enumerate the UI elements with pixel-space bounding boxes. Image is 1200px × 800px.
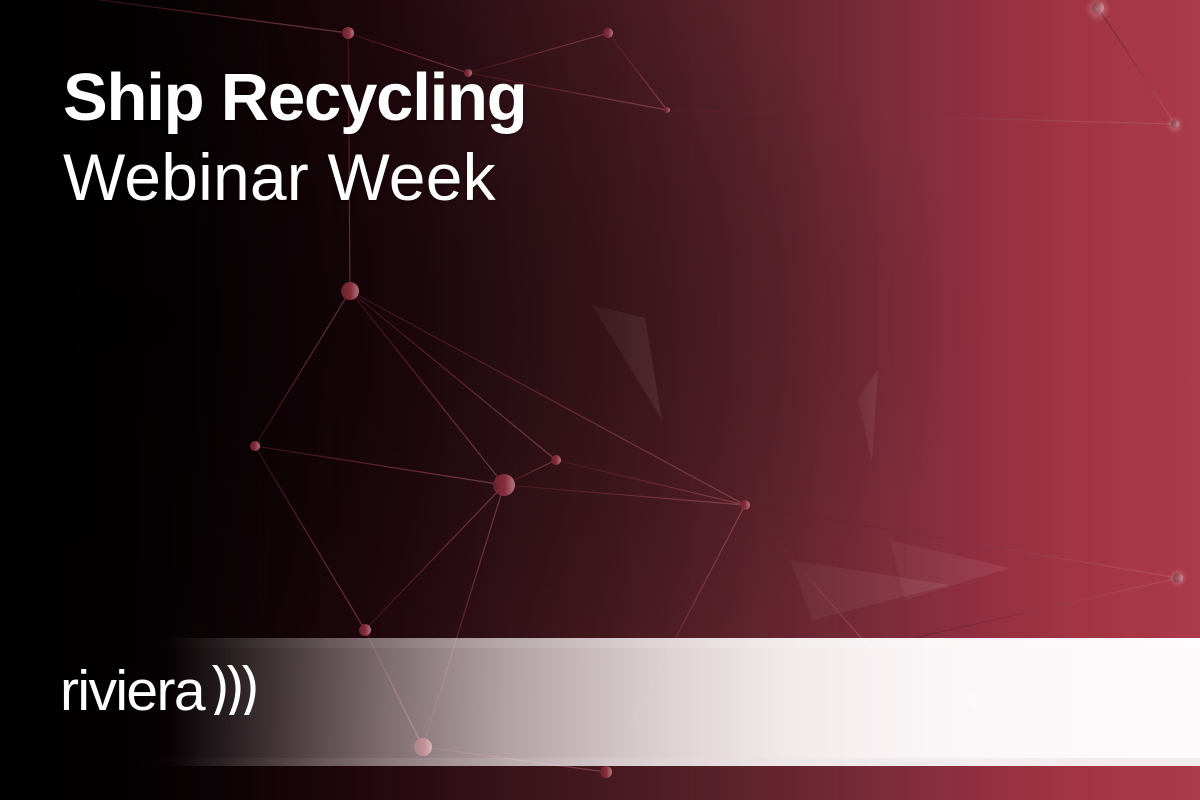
network-edge — [255, 291, 350, 446]
network-node — [1173, 573, 1183, 583]
network-node — [1171, 120, 1179, 128]
network-edge — [1098, 8, 1175, 124]
network-edge — [350, 291, 504, 485]
network-node — [341, 282, 359, 300]
triple-chevron-arc-icon — [206, 659, 268, 726]
network-node — [603, 28, 613, 38]
network-edge — [667, 110, 1175, 124]
brand-ribbon-bottom-edge — [0, 758, 1200, 766]
title-line-secondary: Webinar Week — [63, 146, 527, 209]
network-edge — [365, 485, 504, 630]
network-node — [600, 766, 612, 778]
network-node — [359, 624, 371, 636]
brand-ribbon-top-edge — [0, 638, 1200, 648]
network-edge — [350, 291, 745, 505]
polygon-triangle — [858, 370, 878, 462]
brand-wordmark: riviera — [60, 663, 204, 720]
network-node — [1092, 2, 1104, 14]
page-title: Ship Recycling Webinar Week — [63, 66, 527, 210]
network-node — [740, 500, 750, 510]
network-edge — [608, 33, 667, 110]
polygon-triangle — [890, 540, 1010, 600]
network-edge — [556, 460, 745, 505]
polygon-triangles — [592, 305, 1010, 620]
network-edge — [350, 291, 556, 460]
network-edge — [255, 446, 504, 485]
network-edge — [100, 0, 348, 33]
network-node — [664, 107, 670, 113]
network-edge — [255, 446, 365, 630]
promo-banner: Ship Recycling Webinar Week riviera — [0, 0, 1200, 800]
network-node — [551, 455, 561, 465]
network-edge — [504, 485, 745, 505]
title-line-primary: Ship Recycling — [63, 66, 527, 130]
polygon-triangle — [592, 305, 662, 420]
network-node — [250, 441, 260, 451]
brand-logo[interactable]: riviera — [60, 661, 268, 723]
network-node — [342, 27, 354, 39]
network-node — [493, 474, 515, 496]
